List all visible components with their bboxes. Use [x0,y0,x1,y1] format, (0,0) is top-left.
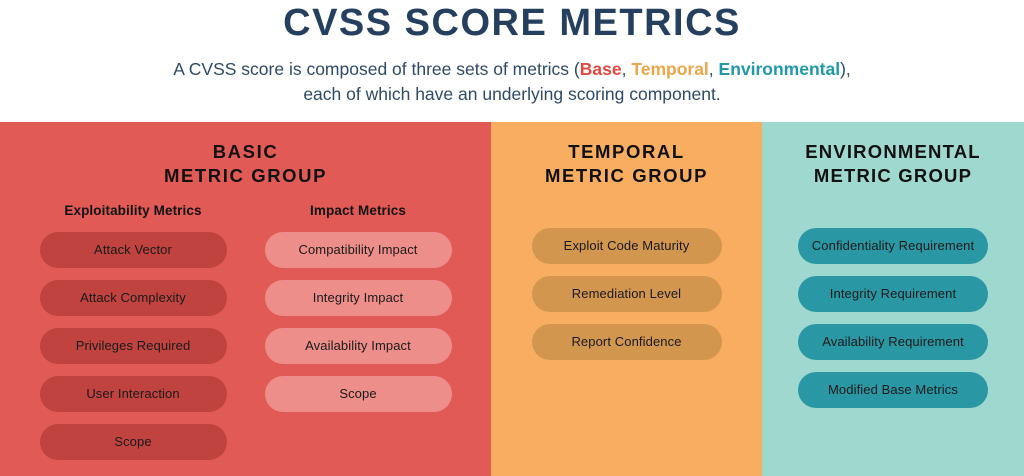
cvss-score-metrics-infographic: CVSS SCORE METRICS A CVSS score is compo… [0,0,1024,476]
temporal-pill-stack: Exploit Code Maturity Remediation Level … [491,228,762,360]
column-exploitability-metrics: Exploitability Metrics Attack Vector Att… [40,203,227,460]
keyword-temporal: Temporal [631,59,708,79]
pill-compatibility-impact[interactable]: Compatibility Impact [265,232,452,268]
panel-basic-metric-group: BASIC METRIC GROUP Exploitability Metric… [0,122,491,476]
environmental-pill-stack: Confidentiality Requirement Integrity Re… [762,228,1024,408]
panel-basic-title-line1: BASIC [0,140,491,164]
panel-basic-title-line2: METRIC GROUP [0,164,491,188]
pill-integrity-impact[interactable]: Integrity Impact [265,280,452,316]
pill-attack-vector[interactable]: Attack Vector [40,232,227,268]
subtitle-separator-1: , [622,59,632,79]
subtitle-text-lead: A CVSS score is composed of three sets o… [173,59,580,79]
pill-report-confidence[interactable]: Report Confidence [532,324,722,360]
pill-scope-impact[interactable]: Scope [265,376,452,412]
pill-privileges-required[interactable]: Privileges Required [40,328,227,364]
header: CVSS SCORE METRICS A CVSS score is compo… [0,0,1024,122]
pill-modified-base-metrics[interactable]: Modified Base Metrics [798,372,988,408]
pill-user-interaction[interactable]: User Interaction [40,376,227,412]
keyword-base: Base [580,59,622,79]
panel-environmental-title-line2: METRIC GROUP [762,164,1024,188]
pill-exploit-code-maturity[interactable]: Exploit Code Maturity [532,228,722,264]
subtitle-text-close: ), [840,59,851,79]
basic-columns: Exploitability Metrics Attack Vector Att… [0,203,491,460]
panel-temporal-title-line2: METRIC GROUP [491,164,762,188]
impact-pill-stack: Compatibility Impact Integrity Impact Av… [265,232,452,412]
pill-availability-impact[interactable]: Availability Impact [265,328,452,364]
keyword-environmental: Environmental [719,59,841,79]
pill-scope-exploitability[interactable]: Scope [40,424,227,460]
panel-environmental-metric-group: ENVIRONMENTAL METRIC GROUP Confidentiali… [762,122,1024,476]
subtitle-line-2: each of which have an underlying scoring… [173,82,851,107]
panel-temporal-title: TEMPORAL METRIC GROUP [491,140,762,189]
panel-basic-title: BASIC METRIC GROUP [0,140,491,189]
panel-temporal-metric-group: TEMPORAL METRIC GROUP Exploit Code Matur… [491,122,762,476]
panel-environmental-title: ENVIRONMENTAL METRIC GROUP [762,140,1024,189]
exploitability-pill-stack: Attack Vector Attack Complexity Privileg… [40,232,227,460]
page-title: CVSS SCORE METRICS [283,4,741,44]
subtitle: A CVSS score is composed of three sets o… [173,57,851,108]
subtitle-separator-2: , [709,59,719,79]
column-heading-impact: Impact Metrics [310,203,406,218]
pill-availability-requirement[interactable]: Availability Requirement [798,324,988,360]
metric-group-panels: BASIC METRIC GROUP Exploitability Metric… [0,122,1024,476]
pill-remediation-level[interactable]: Remediation Level [532,276,722,312]
pill-confidentiality-requirement[interactable]: Confidentiality Requirement [798,228,988,264]
pill-attack-complexity[interactable]: Attack Complexity [40,280,227,316]
panel-temporal-title-line1: TEMPORAL [491,140,762,164]
column-heading-exploitability: Exploitability Metrics [64,203,201,218]
column-impact-metrics: Impact Metrics Compatibility Impact Inte… [265,203,452,460]
panel-environmental-title-line1: ENVIRONMENTAL [762,140,1024,164]
pill-integrity-requirement[interactable]: Integrity Requirement [798,276,988,312]
